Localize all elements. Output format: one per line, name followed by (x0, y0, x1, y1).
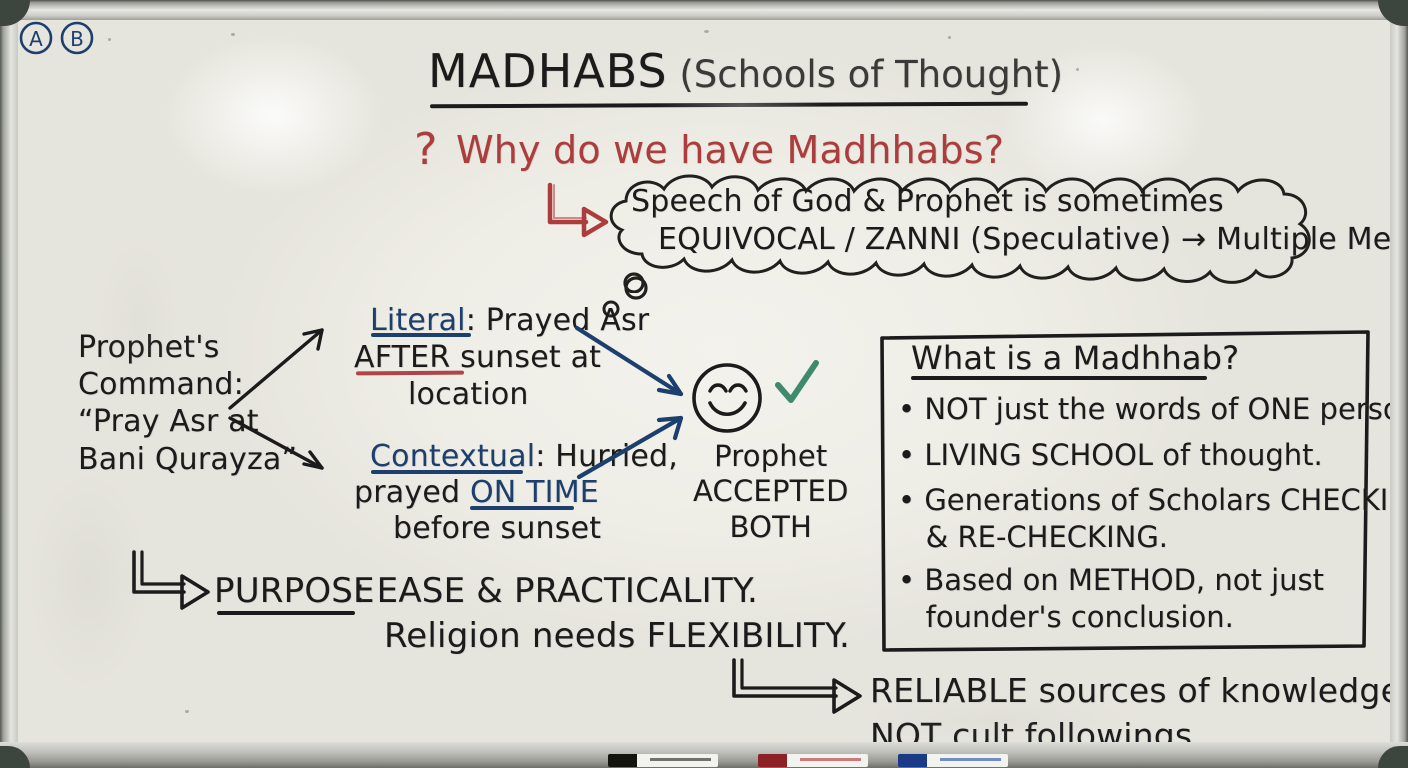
option-b-label: Contextual (370, 439, 535, 474)
infobox-bullet-2: • LIVING SCHOOL of thought. (898, 438, 1323, 472)
outcome-line-3: BOTH (693, 510, 849, 545)
whiteboard-photo: MADHABS (Schools of Thought) ? Why do we… (0, 0, 1408, 768)
option-b-line-3: before sunset (393, 511, 601, 546)
frame-top-rail (0, 0, 1408, 22)
infobox-title-underline (911, 376, 1207, 380)
purpose-line-2: Religion needs FLEXIBILITY. (384, 616, 850, 656)
reliable-line-1: RELIABLE sources of knowledge, (870, 672, 1390, 711)
frame-right-rail (1388, 0, 1408, 768)
board-speck (231, 33, 235, 36)
purpose-keyword: PURPOSE (214, 571, 375, 611)
outcome-caption: Prophet ACCEPTED BOTH (693, 439, 849, 545)
outcome-line-2: ACCEPTED (693, 474, 849, 508)
on-time-underline (470, 506, 574, 510)
title-main: MADHABS (428, 44, 668, 98)
option-a-emph: AFTER (354, 340, 450, 375)
svg-text:B: B (70, 27, 84, 51)
board-speck (108, 38, 111, 41)
board-speck (1076, 68, 1079, 71)
after-underline (356, 371, 464, 376)
board-speck (185, 710, 189, 713)
infobox-title: What is a Madhhab? (911, 340, 1239, 378)
purpose-underline (217, 611, 355, 615)
outcome-line-1: Prophet (714, 439, 827, 473)
infobox-bullet-4: • Based on METHOD, not just founder's co… (898, 562, 1324, 635)
why-question-text: Why do we have Madhhabs? (456, 128, 1004, 173)
title-parenthetical: (Schools of Thought) (668, 53, 1064, 96)
marker-tray (18, 746, 1390, 768)
page-title: MADHABS (Schools of Thought) (428, 44, 1063, 98)
option-b-line2-pre: prayed (354, 475, 470, 510)
green-check-icon (773, 358, 821, 410)
title-underline (430, 102, 1028, 109)
frame-left-rail (0, 0, 20, 768)
blue-marker[interactable] (898, 754, 1008, 767)
converging-arrows-icon-blue (573, 320, 703, 485)
svg-text:A: A (29, 27, 43, 51)
black-marker[interactable] (608, 754, 718, 767)
red-marker[interactable] (758, 754, 868, 767)
option-b-marker: B (59, 20, 95, 56)
infobox-bullet-1: • NOT just the words of ONE person. (898, 392, 1390, 426)
infobox-bullet-3: • Generations of Scholars CHECKING & RE-… (898, 482, 1390, 555)
command-line-2: Command: (78, 367, 244, 402)
reliable-emph: NOT (870, 716, 941, 742)
reliable-line-2: NOT cult followings. (870, 717, 1203, 742)
long-elbow-arrow-icon (728, 656, 868, 718)
bubble-line-1: Speech of God & Prophet is sometimes (631, 184, 1224, 219)
whiteboard-surface: MADHABS (Schools of Thought) ? Why do we… (18, 20, 1390, 742)
reliable-rest: cult followings. (941, 716, 1203, 742)
purpose-colon: : EASE & PRACTICALITY. (354, 571, 758, 611)
smiley-face-icon (690, 361, 764, 435)
bubble-line-2: EQUIVOCAL / ZANNI (Speculative) → Multip… (658, 222, 1390, 257)
board-speck (948, 36, 951, 39)
contextual-underline (371, 470, 523, 474)
question-mark-icon: ? (414, 124, 438, 176)
command-line-1: Prophet's (78, 330, 220, 365)
elbow-arrow-icon-purpose (128, 548, 216, 614)
fork-arrows-icon (222, 310, 352, 490)
option-a-marker: A (18, 20, 54, 56)
option-a-line-2: AFTER sunset at (354, 340, 601, 375)
board-speck (704, 30, 709, 33)
option-a-line-3: location (408, 377, 529, 412)
literal-underline (371, 333, 471, 337)
